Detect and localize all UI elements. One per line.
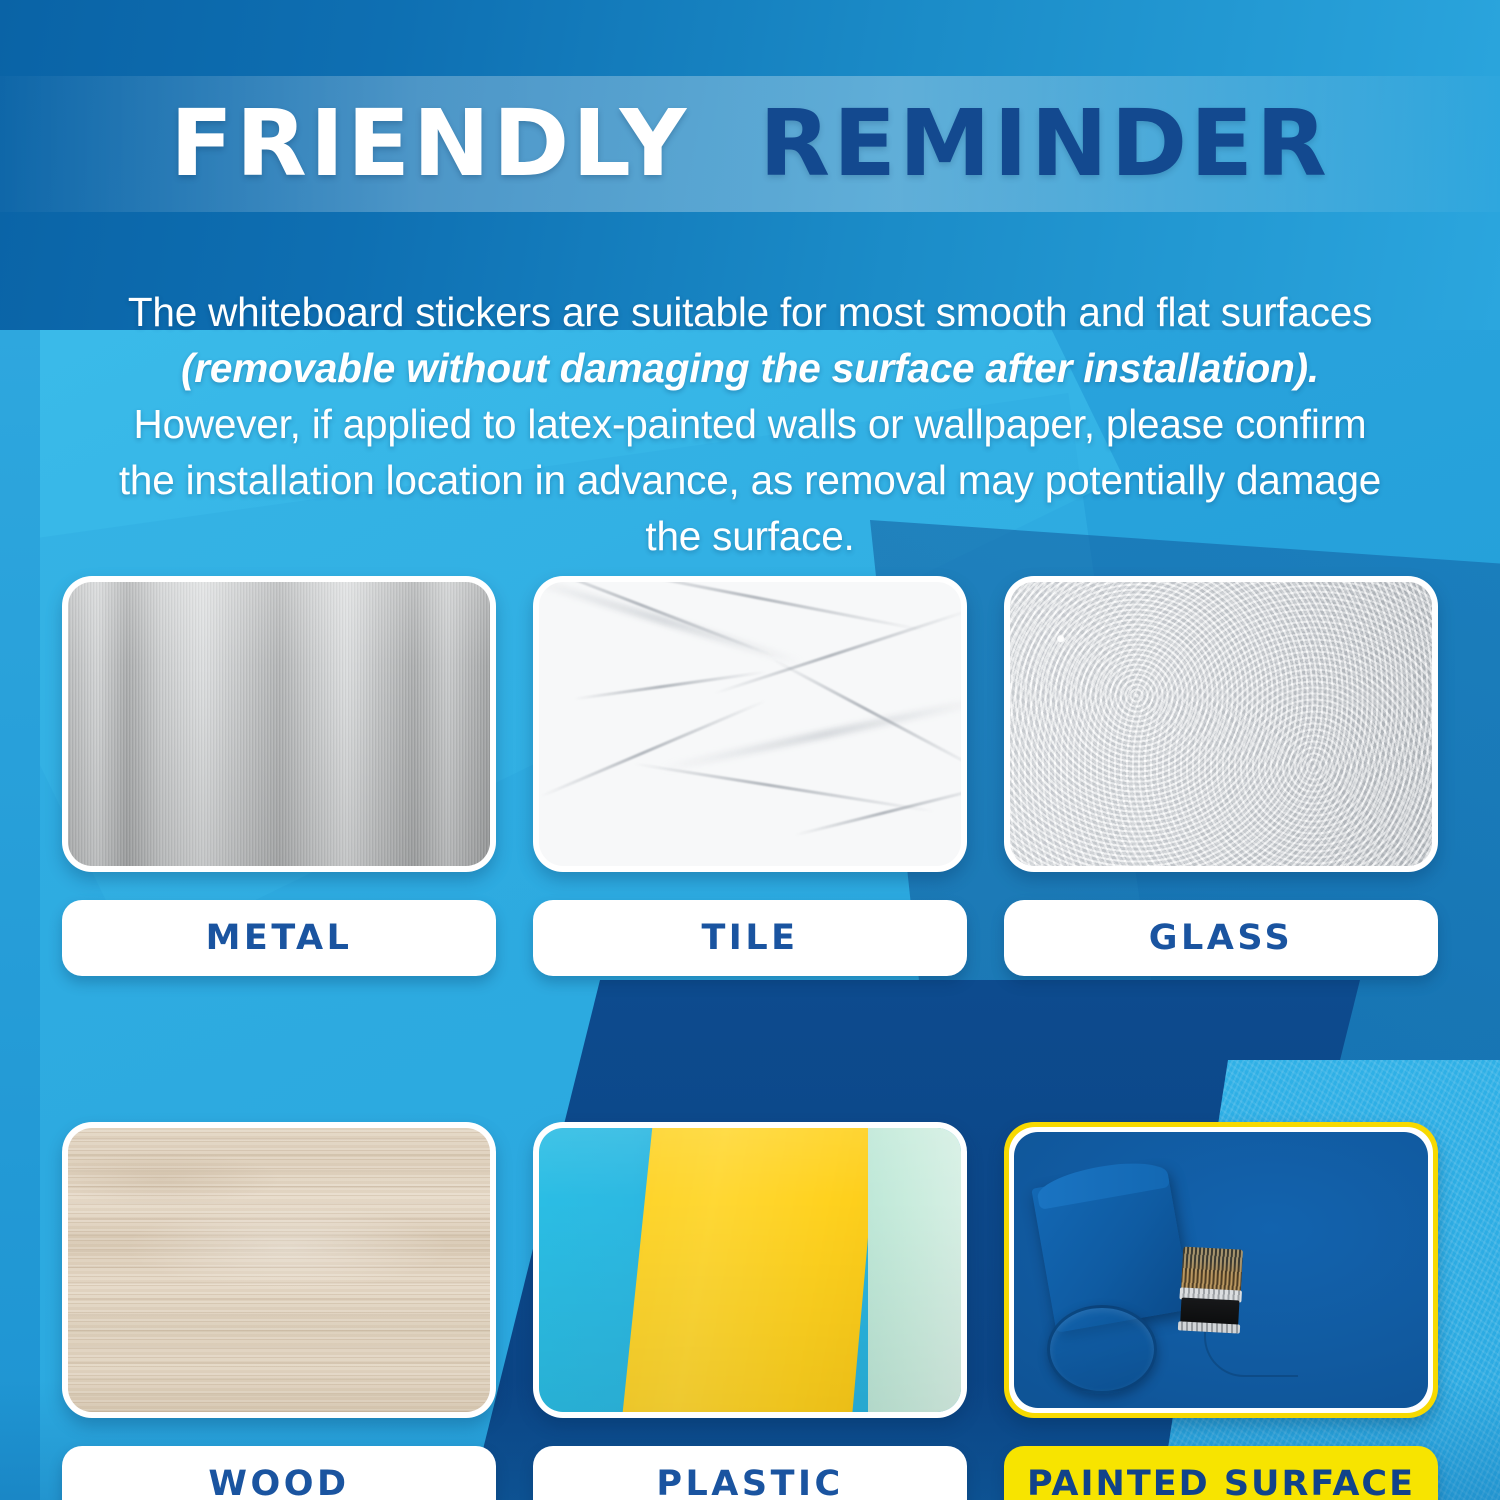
swatch-tile-inner (539, 582, 961, 866)
label-pill-painted-surface[interactable]: PAINTED SURFACE (1004, 1446, 1438, 1500)
colored-plastic-texture (539, 1128, 961, 1412)
surface-grid: METAL (62, 576, 1438, 1500)
label-pill-wood[interactable]: WOOD (62, 1446, 496, 1500)
title-word-reminder: REMINDER (759, 90, 1330, 197)
surface-card-tile: TILE (533, 576, 967, 976)
paint-drip-icon (1204, 1325, 1297, 1377)
title-space (689, 90, 759, 197)
label-pill-glass[interactable]: GLASS (1004, 900, 1438, 976)
swatch-wood[interactable] (62, 1122, 496, 1418)
paintbrush-bristles (1181, 1246, 1243, 1292)
swatch-metal-inner (68, 582, 490, 866)
swatch-metal[interactable] (62, 576, 496, 872)
swatch-painted-surface[interactable] (1004, 1122, 1438, 1418)
marble-vein-soft-1 (539, 582, 804, 667)
intro-text-part-2: However, if applied to latex-painted wal… (119, 401, 1381, 559)
swatch-glass[interactable] (1004, 576, 1438, 872)
swatch-wood-inner (68, 1128, 490, 1412)
plastic-sheen (539, 1128, 961, 1412)
blue-painted-wall-photo (1014, 1132, 1428, 1408)
brushed-metal-texture (68, 582, 490, 866)
paint-can-lid-icon (1047, 1305, 1157, 1394)
surface-card-plastic: PLASTIC (533, 1122, 967, 1500)
surface-card-wood: WOOD (62, 1122, 496, 1500)
background-left-edge (0, 330, 40, 1500)
label-pill-metal[interactable]: METAL (62, 900, 496, 976)
label-metal: METAL (206, 918, 353, 958)
paintbrush-icon (1177, 1246, 1243, 1332)
swatch-painted-white-ring (1009, 1127, 1433, 1413)
frosted-glass-texture (1010, 582, 1432, 866)
label-pill-plastic[interactable]: PLASTIC (533, 1446, 967, 1500)
intro-text-emphasis: (removable without damaging the surface … (181, 345, 1319, 391)
swatch-plastic-inner (539, 1128, 961, 1412)
intro-paragraph: The whiteboard stickers are suitable for… (110, 284, 1390, 564)
surface-card-metal: METAL (62, 576, 496, 976)
marble-vein-4 (540, 699, 766, 797)
swatch-painted-inner (1014, 1132, 1428, 1408)
surface-card-glass: GLASS (1004, 576, 1438, 976)
marble-vein-5 (633, 763, 934, 813)
label-painted-surface: PAINTED SURFACE (1027, 1464, 1415, 1500)
swatch-tile[interactable] (533, 576, 967, 872)
infographic-page: FRIENDLY REMINDER The whiteboard sticker… (0, 0, 1500, 1500)
label-glass: GLASS (1149, 918, 1293, 958)
light-wood-grain-texture (68, 1128, 490, 1412)
label-plastic: PLASTIC (656, 1464, 843, 1500)
page-title: FRIENDLY REMINDER (0, 82, 1500, 206)
surface-card-painted-surface: PAINTED SURFACE (1004, 1122, 1438, 1500)
label-wood: WOOD (208, 1464, 349, 1500)
white-marble-texture (539, 582, 961, 866)
title-word-friendly: FRIENDLY (170, 90, 689, 197)
label-tile: TILE (701, 918, 798, 958)
swatch-plastic[interactable] (533, 1122, 967, 1418)
swatch-glass-inner (1010, 582, 1432, 866)
label-pill-tile[interactable]: TILE (533, 900, 967, 976)
intro-text-part-1: The whiteboard stickers are suitable for… (128, 289, 1372, 335)
